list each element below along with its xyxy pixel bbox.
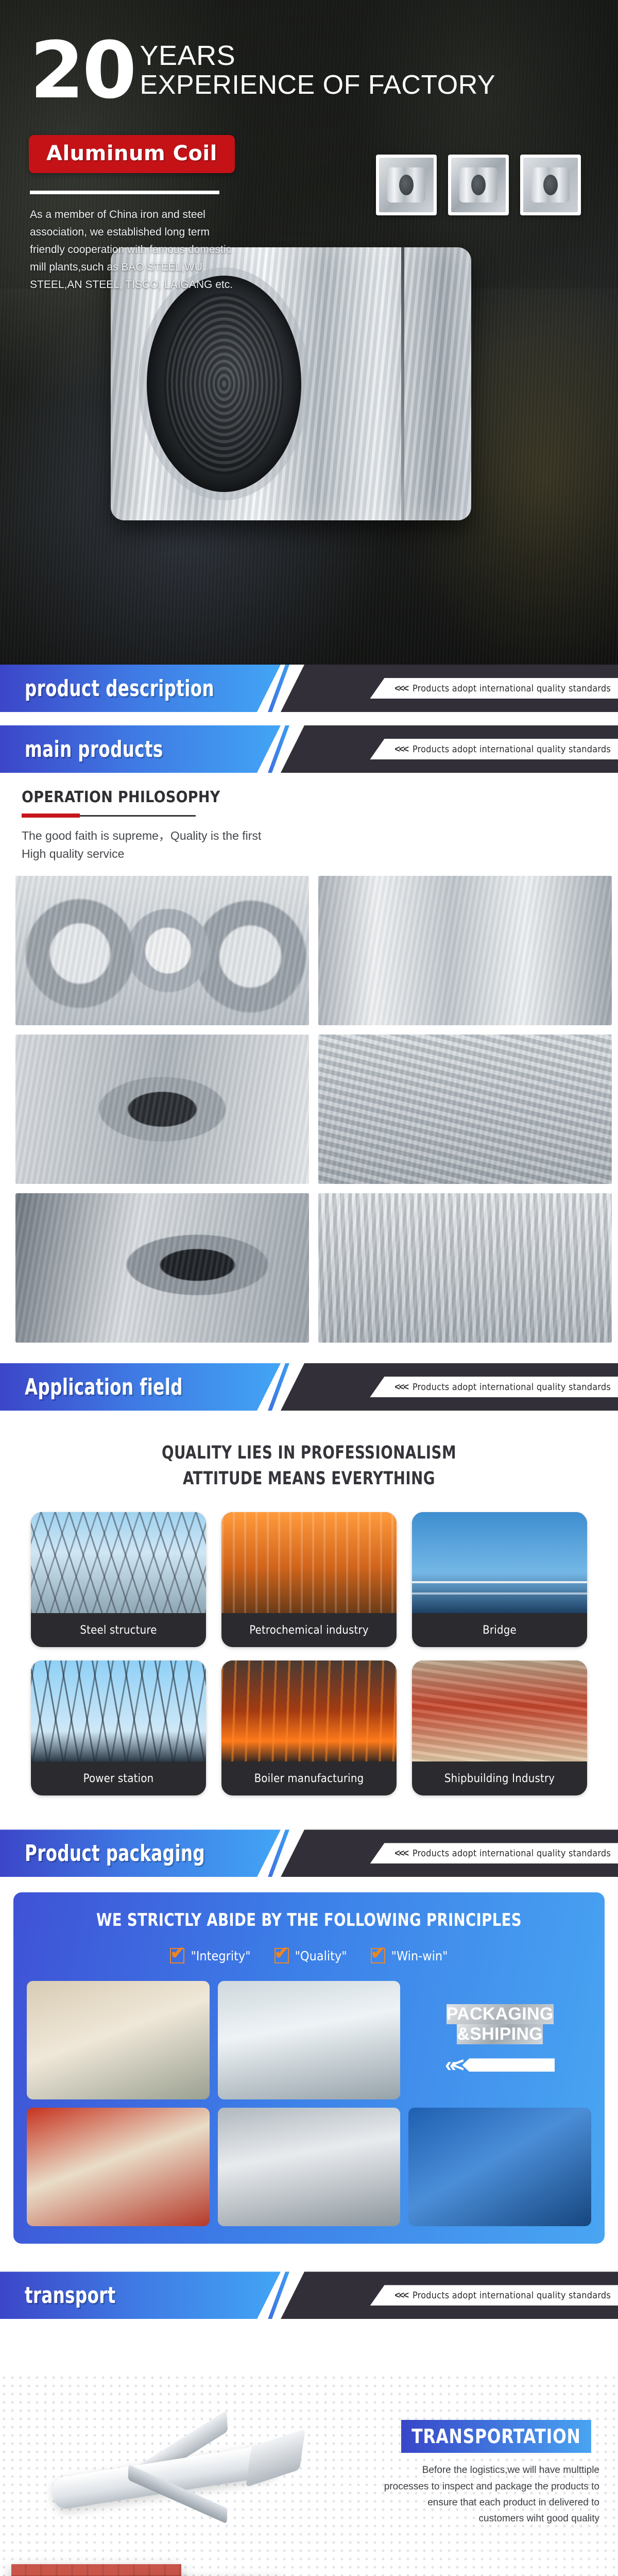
section-tag-label: Products adopt international quality sta… bbox=[413, 2290, 611, 2301]
checkmark-icon bbox=[170, 1948, 184, 1963]
application-card-label: Boiler manufacturing bbox=[221, 1761, 397, 1795]
packing-in-container bbox=[27, 1981, 210, 2099]
coil-icon bbox=[387, 167, 425, 202]
section-tag: <<< Products adopt international quality… bbox=[370, 1377, 618, 1397]
section-header-application-field: Application field <<< Products adopt int… bbox=[0, 1363, 618, 1411]
aluminum-coils-stacked bbox=[15, 876, 309, 1025]
section-title: product description bbox=[25, 665, 214, 712]
bridge-photo bbox=[412, 1512, 587, 1613]
transportation-text-panel: TRANSPORTATION Before the logistics,we w… bbox=[383, 2420, 599, 2527]
principle-label: "Win-win" bbox=[391, 1948, 448, 1963]
years-word: YEARS bbox=[140, 41, 496, 71]
section-tag: <<< Products adopt international quality… bbox=[370, 1843, 618, 1863]
chevrons-left-icon: <<< bbox=[394, 1848, 408, 1859]
divider-dark-segment bbox=[80, 815, 196, 817]
empty-container-interior bbox=[218, 1981, 401, 2099]
section-title: transport bbox=[25, 2272, 116, 2319]
application-cards-row-2: Power station Boiler manufacturing Shipb… bbox=[0, 1660, 618, 1809]
application-card-label: Shipbuilding Industry bbox=[412, 1761, 587, 1795]
coil-surface-closeup bbox=[318, 1035, 612, 1184]
section-title: Application field bbox=[25, 1363, 183, 1411]
quality-line-1: QUALITY LIES IN PROFESSIONALISM bbox=[37, 1440, 581, 1466]
checkmark-icon bbox=[274, 1948, 289, 1963]
transportation-section: TRANSPORTATION Before the logistics,we w… bbox=[0, 2343, 618, 2576]
packaging-callout: PACKAGING &SHIPING «< bbox=[408, 1981, 591, 2099]
experience-line: EXPERIENCE OF FACTORY bbox=[140, 71, 496, 100]
steel-structure-photo bbox=[31, 1512, 206, 1613]
chevrons-left-icon: <<< bbox=[394, 683, 408, 694]
application-card-power-station[interactable]: Power station bbox=[31, 1660, 206, 1795]
philosophy-heading: OPERATION PHILOSOPHY bbox=[22, 788, 618, 806]
chevrons-left-icon: <<< bbox=[394, 2290, 408, 2301]
aluminum-coil-badge-label: Aluminum Coil bbox=[46, 142, 217, 165]
coil-icon bbox=[459, 167, 497, 202]
principle-win-win: "Win-win" bbox=[371, 1948, 448, 1963]
principle-label: "Integrity" bbox=[191, 1948, 250, 1963]
coil-core bbox=[147, 276, 301, 492]
packaging-title: WE STRICTLY ABIDE BY THE FOLLOWING PRINC… bbox=[55, 1910, 563, 1930]
arrow-bar-shape bbox=[462, 2058, 555, 2072]
application-card-petrochemical-industry[interactable]: Petrochemical industry bbox=[221, 1512, 397, 1647]
coil-seam bbox=[401, 247, 404, 520]
wrapped-coils-red bbox=[27, 2108, 210, 2226]
hero-description: As a member of China iron and steel asso… bbox=[30, 206, 246, 294]
chevrons-left-icon: <<< bbox=[394, 744, 408, 755]
principle-integrity: "Integrity" bbox=[170, 1948, 250, 1963]
philosophy-divider bbox=[22, 814, 196, 818]
hero-headline: 20 YEARS EXPERIENCE OF FACTORY bbox=[30, 37, 495, 105]
hero-thumbnail-row bbox=[376, 155, 581, 215]
section-tag-label: Products adopt international quality sta… bbox=[413, 683, 611, 694]
shipbuilding-photo bbox=[412, 1660, 587, 1761]
blue-wrapped-bundles bbox=[408, 2108, 591, 2226]
quality-headline: QUALITY LIES IN PROFESSIONALISM ATTITUDE… bbox=[0, 1411, 618, 1512]
coil-thumb-1 bbox=[376, 155, 437, 215]
packaging-panel: WE STRICTLY ABIDE BY THE FOLLOWING PRINC… bbox=[13, 1892, 605, 2244]
section-tag-label: Products adopt international quality sta… bbox=[413, 1382, 611, 1393]
application-card-boiler-manufacturing[interactable]: Boiler manufacturing bbox=[221, 1660, 397, 1795]
application-card-steel-structure[interactable]: Steel structure bbox=[31, 1512, 206, 1647]
boiler-manufacturing-photo bbox=[221, 1660, 397, 1761]
section-tag: <<< Products adopt international quality… bbox=[370, 739, 618, 759]
application-card-shipbuilding-industry[interactable]: Shipbuilding Industry bbox=[412, 1660, 587, 1795]
coil-icon bbox=[531, 167, 570, 202]
section-tag-label: Products adopt international quality sta… bbox=[413, 744, 611, 755]
application-card-label: Power station bbox=[31, 1761, 206, 1795]
section-tag-label: Products adopt international quality sta… bbox=[413, 1848, 611, 1859]
steel-coil-roll bbox=[318, 876, 612, 1025]
section-tag: <<< Products adopt international quality… bbox=[370, 678, 618, 699]
callout-arrow: «< bbox=[445, 2054, 555, 2077]
section-header-main-products: main products <<< Products adopt interna… bbox=[0, 725, 618, 773]
power-station-photo bbox=[31, 1660, 206, 1761]
years-number: 20 bbox=[30, 37, 135, 105]
section-title: main products bbox=[25, 725, 163, 773]
transportation-paragraph: Before the logistics,we will have multti… bbox=[383, 2462, 599, 2527]
coil-thumb-3 bbox=[520, 155, 581, 215]
aluminum-coil-badge: Aluminum Coil bbox=[29, 135, 235, 173]
philosophy-line-1: The good faith is supreme，Quality is the… bbox=[22, 827, 618, 845]
application-card-bridge[interactable]: Bridge bbox=[412, 1512, 587, 1647]
packaging-photo-grid: PACKAGING &SHIPING «< bbox=[27, 1981, 591, 2226]
section-title: Product packaging bbox=[25, 1829, 205, 1877]
chevrons-left-icon: <<< bbox=[394, 1382, 408, 1393]
philosophy-line-2: High quality service bbox=[22, 845, 618, 863]
principles-row: "Integrity" "Quality" "Win-win" bbox=[27, 1948, 591, 1963]
coil-eye-view bbox=[15, 1035, 309, 1184]
coil-banded-roll bbox=[318, 1193, 612, 1343]
transportation-banner: TRANSPORTATION bbox=[401, 2420, 591, 2453]
red-container-stack bbox=[11, 2564, 181, 2576]
checkmark-icon bbox=[371, 1948, 385, 1963]
quality-line-2: ATTITUDE MEANS EVERYTHING bbox=[37, 1466, 581, 1492]
petrochemical-plant-photo bbox=[221, 1512, 397, 1613]
section-header-product-description: product description <<< Products adopt i… bbox=[0, 665, 618, 712]
section-tag: <<< Products adopt international quality… bbox=[370, 2285, 618, 2306]
operation-philosophy: OPERATION PHILOSOPHY The good faith is s… bbox=[0, 773, 618, 862]
airplane-tail bbox=[246, 2429, 305, 2487]
hero-divider bbox=[30, 191, 219, 194]
coils-in-warehouse bbox=[218, 2108, 401, 2226]
application-card-label: Petrochemical industry bbox=[221, 1613, 397, 1647]
coil-inner-core bbox=[15, 1193, 309, 1343]
callout-line-2: &SHIPING bbox=[457, 2024, 543, 2044]
callout-line-1: PACKAGING bbox=[447, 2004, 554, 2024]
divider-red-segment bbox=[22, 814, 80, 818]
application-card-label: Bridge bbox=[412, 1613, 587, 1647]
principle-quality: "Quality" bbox=[274, 1948, 347, 1963]
application-card-label: Steel structure bbox=[31, 1613, 206, 1647]
airplane-illustration bbox=[21, 2384, 309, 2554]
section-header-transport: transport <<< Products adopt internation… bbox=[0, 2272, 618, 2319]
chevrons-left-icon: «< bbox=[445, 2054, 460, 2077]
hero-banner: 20 YEARS EXPERIENCE OF FACTORY Aluminum … bbox=[0, 0, 618, 665]
principle-label: "Quality" bbox=[295, 1948, 347, 1963]
coil-thumb-2 bbox=[448, 155, 509, 215]
application-cards-row-1: Steel structure Petrochemical industry B… bbox=[0, 1512, 618, 1660]
product-gallery-grid bbox=[0, 862, 618, 1363]
section-header-product-packaging: Product packaging <<< Products adopt int… bbox=[0, 1829, 618, 1877]
